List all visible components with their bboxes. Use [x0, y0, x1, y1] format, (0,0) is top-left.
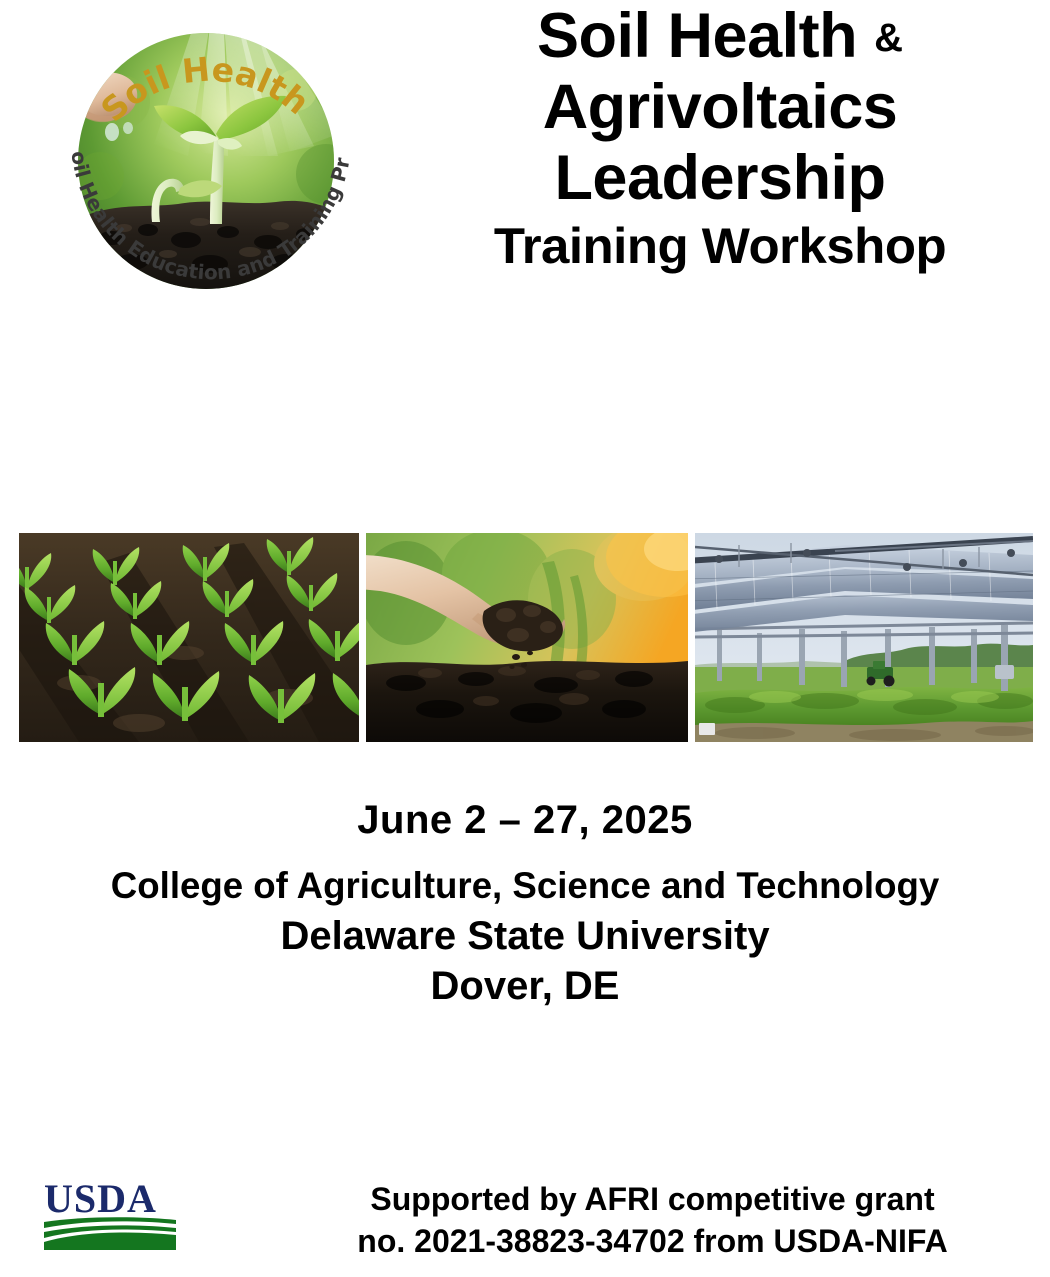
event-university: Delaware State University [0, 914, 1050, 959]
grant-acknowledgement: Supported by AFRI competitive grant no. … [255, 1178, 1050, 1262]
usda-logo: USDA [42, 1176, 194, 1256]
title-line-2: Agrivoltaics [400, 75, 1040, 140]
grant-line-2: no. 2021-38823-34702 from USDA-NIFA [255, 1220, 1050, 1262]
poster-title: Soil Health & Agrivoltaics Leadership Tr… [400, 4, 1040, 272]
title-line-4: Training Workshop [394, 221, 1047, 273]
title-line-1-main: Soil Health [537, 1, 857, 71]
soil-health-program-logo: Soil Health 1890 Soil Health Education a… [28, 6, 378, 326]
title-line-3: Leadership [400, 146, 1040, 211]
usda-wordmark: USDA [44, 1176, 157, 1221]
event-info: June 2 – 27, 2025 College of Agriculture… [0, 798, 1050, 1009]
photo-strip [19, 533, 1033, 742]
photo-agrivoltaics-array [695, 533, 1033, 742]
title-line-1: Soil Health & [400, 4, 1040, 69]
poster-root: Soil Health 1890 Soil Health Education a… [0, 0, 1050, 1277]
photo-hand-holding-soil [366, 533, 688, 742]
grant-line-1: Supported by AFRI competitive grant [255, 1178, 1050, 1220]
photo-corn-rows [19, 533, 359, 742]
event-city: Dover, DE [0, 964, 1050, 1009]
event-date: June 2 – 27, 2025 [0, 798, 1050, 843]
title-ampersand: & [874, 16, 903, 60]
event-college: College of Agriculture, Science and Tech… [5, 865, 1045, 907]
